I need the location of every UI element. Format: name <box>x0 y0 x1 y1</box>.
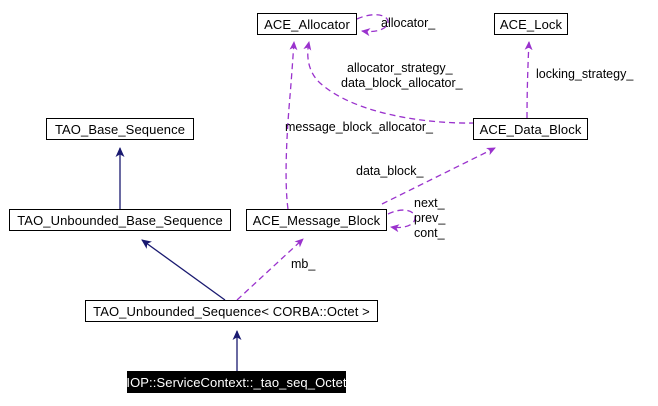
node-ace-data-block[interactable]: ACE_Data_Block <box>473 118 588 140</box>
edge-label-message-block-allocator: message_block_allocator_ <box>285 120 433 135</box>
node-ace-allocator[interactable]: ACE_Allocator <box>257 13 357 35</box>
edge-label-data-block: data_block_ <box>356 164 423 179</box>
edge-label-cont: cont_ <box>414 226 445 241</box>
node-tao-unbounded-sequence-corba-octet[interactable]: TAO_Unbounded_Sequence< CORBA::Octet > <box>85 300 378 322</box>
node-tao-unbounded-base-sequence[interactable]: TAO_Unbounded_Base_Sequence <box>9 209 231 231</box>
edge-message-block-self <box>388 210 415 227</box>
node-ace-message-block[interactable]: ACE_Message_Block <box>246 209 387 231</box>
edges-layer <box>0 0 658 406</box>
node-iop-servicecontext-tao-seq-octet[interactable]: IOP::ServiceContext::_tao_seq_Octet <box>127 371 346 393</box>
edge-label-prev: prev_ <box>414 211 445 226</box>
edge-label-allocator: allocator_ <box>381 16 435 31</box>
edge-label-next: next_ <box>414 196 445 211</box>
edge-data-block-to-lock <box>527 42 529 118</box>
node-tao-base-sequence[interactable]: TAO_Base_Sequence <box>46 118 194 140</box>
collaboration-diagram: ACE_Allocator ACE_Lock TAO_Base_Sequence… <box>0 0 658 406</box>
edge-label-mb: mb_ <box>291 257 315 272</box>
edge-label-allocator-strategy-line1: allocator_strategy_ <box>347 61 463 76</box>
edge-unb-seq-inherits-unb-base-seq <box>142 240 225 300</box>
edge-label-data-block-allocator-line2: data_block_allocator_ <box>341 76 463 91</box>
edge-label-locking-strategy: locking_strategy_ <box>536 67 633 82</box>
edge-label-allocator-strategy: allocator_strategy_ data_block_allocator… <box>347 61 463 91</box>
node-ace-lock[interactable]: ACE_Lock <box>494 13 568 35</box>
edge-label-next-prev-cont: next_ prev_ cont_ <box>414 196 445 241</box>
